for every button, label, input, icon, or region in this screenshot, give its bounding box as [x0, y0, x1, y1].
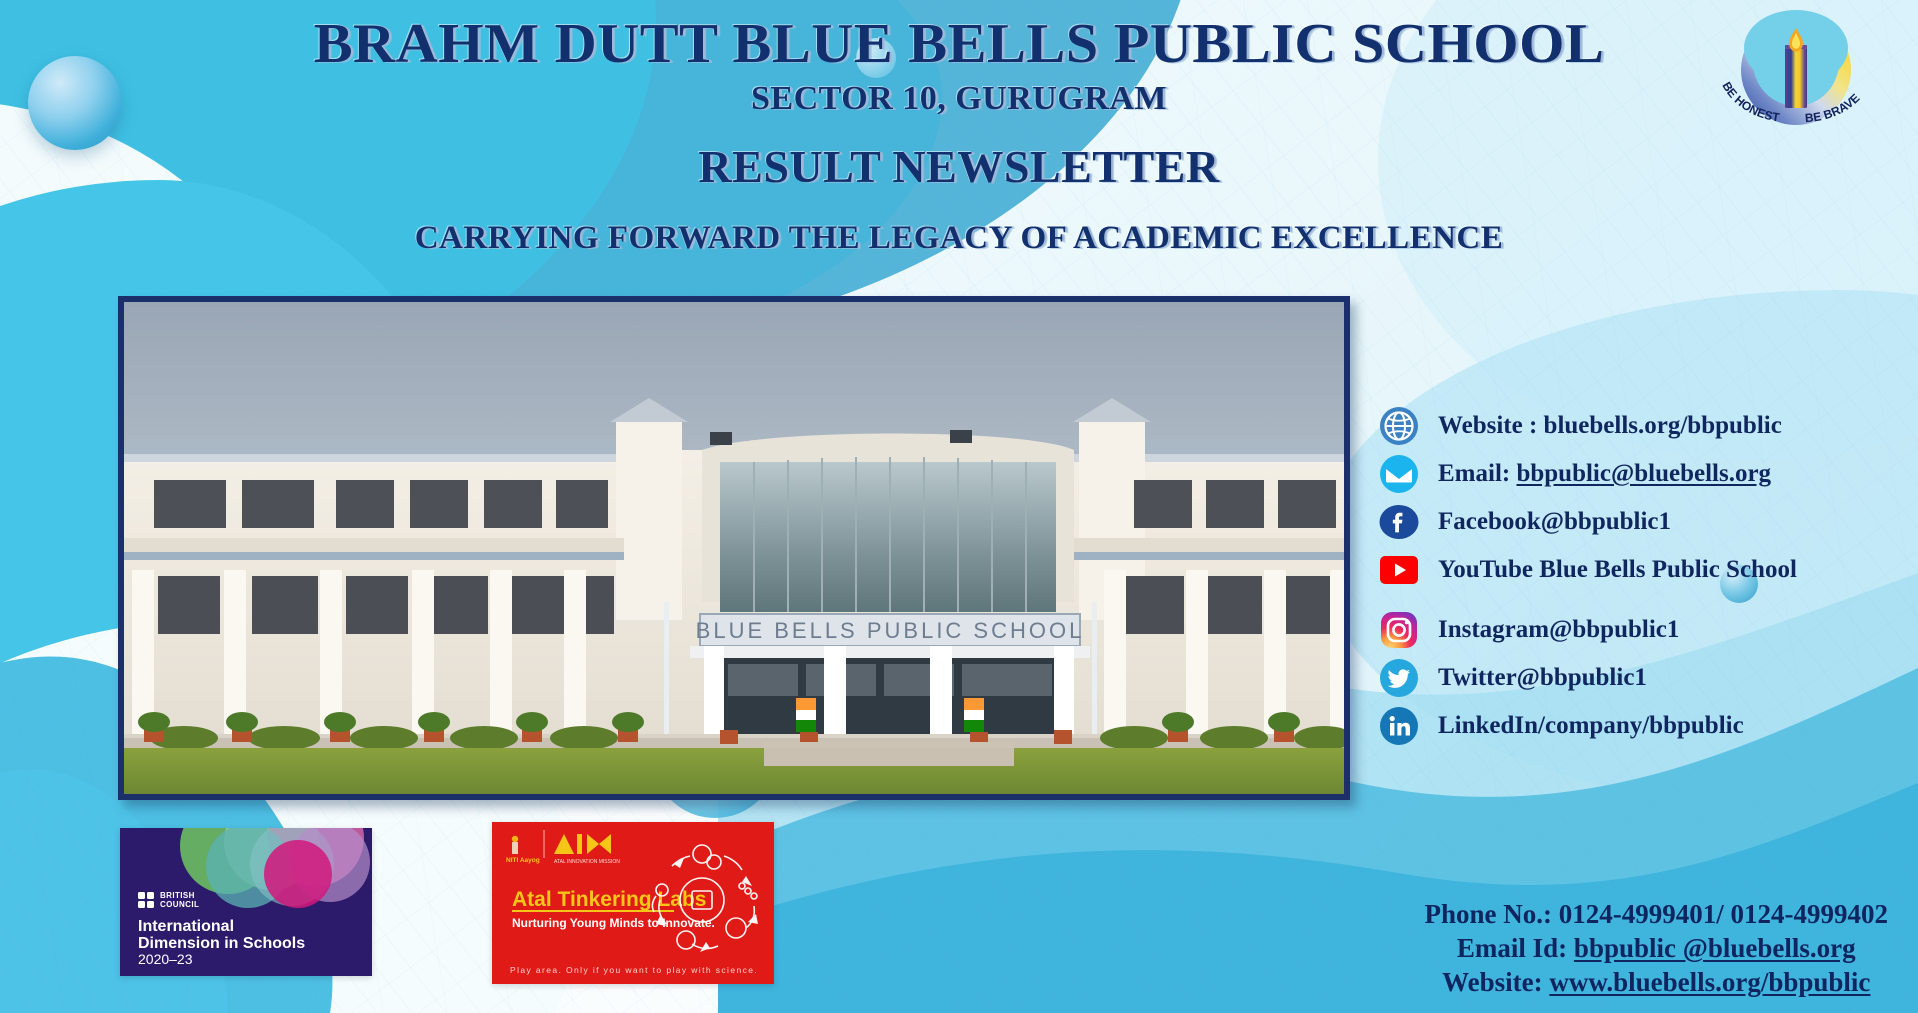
contact-youtube: YouTube Blue Bells Public School: [1438, 556, 1797, 584]
instagram-icon: [1378, 609, 1420, 651]
bc-line1: International: [138, 918, 234, 935]
footer-phone: Phone No.: 0124-4999401/ 0124-4999402: [1425, 897, 1888, 931]
contact-row-linkedin[interactable]: LinkedIn/company/bbpublic: [1378, 704, 1797, 748]
footer-email[interactable]: Email Id: bbpublic @bluebells.org: [1425, 931, 1888, 965]
school-logo: BE HONEST BE BRAVE: [1696, 8, 1896, 128]
tagline: CARRYING FORWARD THE LEGACY OF ACADEMIC …: [0, 221, 1918, 256]
aim-sub: ATAL INNOVATION MISSION: [554, 859, 620, 865]
globe-icon: [1378, 405, 1420, 447]
email-label: Email:: [1438, 460, 1516, 487]
website-label: Website :: [1438, 412, 1544, 439]
contact-row-youtube[interactable]: YouTube Blue Bells Public School: [1378, 548, 1797, 592]
niti-mark: NITI Aayog: [506, 857, 540, 864]
contact-email: Email: bbpublic@bluebells.org: [1438, 460, 1771, 488]
facebook-icon: [1378, 501, 1420, 543]
footer-website[interactable]: Website: www.bluebells.org/bbpublic: [1425, 965, 1888, 999]
youtube-icon: [1378, 549, 1420, 591]
footer-email-value: bbpublic @bluebells.org: [1574, 933, 1856, 963]
header-block: BRAHM DUTT BLUE BELLS PUBLIC SCHOOL SECT…: [0, 0, 1918, 256]
contact-row-facebook[interactable]: Facebook@bbpublic1: [1378, 500, 1797, 544]
footer-phone-label: Phone No.:: [1425, 899, 1559, 929]
school-building-photo: BLUE BELLS PUBLIC SCHOOL: [118, 296, 1350, 800]
contact-row-email[interactable]: Email: bbpublic@bluebells.org: [1378, 452, 1797, 496]
badge-british-council: BRITISH COUNCIL International Dimension …: [120, 828, 372, 976]
document-title: RESULT NEWSLETTER: [0, 143, 1918, 191]
school-sector: SECTOR 10, GURUGRAM: [0, 81, 1918, 117]
linkedin-icon: [1378, 705, 1420, 747]
contact-linkedin: LinkedIn/company/bbpublic: [1438, 712, 1744, 740]
atl-footer: Play area. Only if you want to play with…: [510, 965, 758, 975]
contact-instagram: Instagram@bbpublic1: [1438, 616, 1679, 644]
footer-website-value: www.bluebells.org/bbpublic: [1549, 967, 1870, 997]
bc-line2: Dimension in Schools: [138, 935, 305, 952]
svg-text:BRITISH: BRITISH: [160, 891, 195, 900]
contact-row-instagram[interactable]: Instagram@bbpublic1: [1378, 608, 1797, 652]
contact-row-website[interactable]: Website : bluebells.org/bbpublic: [1378, 404, 1797, 448]
badge-atal-tinkering-labs: NITI Aayog ATAL INNOVATION MISSION Atal …: [492, 822, 774, 984]
svg-text:COUNCIL: COUNCIL: [160, 900, 199, 909]
website-value: bluebells.org/bbpublic: [1544, 412, 1782, 439]
email-value: bbpublic@bluebells.org: [1516, 460, 1771, 487]
contact-list: Website : bluebells.org/bbpublic Email: …: [1378, 404, 1797, 748]
footer-phone-value: 0124-4999401/ 0124-4999402: [1559, 899, 1888, 929]
atl-title: Atal Tinkering Labs: [512, 888, 707, 911]
email-icon: [1378, 453, 1420, 495]
contact-website: Website : bluebells.org/bbpublic: [1438, 412, 1782, 440]
page-title: BRAHM DUTT BLUE BELLS PUBLIC SCHOOL: [0, 16, 1918, 73]
atl-subtitle: Nurturing Young Minds to Innovate.: [512, 916, 715, 930]
contact-facebook: Facebook@bbpublic1: [1438, 508, 1671, 536]
footer-website-label: Website:: [1442, 967, 1549, 997]
contact-twitter: Twitter@bbpublic1: [1438, 664, 1647, 692]
bc-line3: 2020–23: [138, 951, 193, 967]
footer-email-label: Email Id:: [1457, 933, 1574, 963]
footer-contact-block: Phone No.: 0124-4999401/ 0124-4999402 Em…: [1425, 897, 1888, 999]
newsletter-canvas: BE HONEST BE BRAVE BRAHM DUTT BLUE BELLS…: [0, 0, 1918, 1013]
contact-row-twitter[interactable]: Twitter@bbpublic1: [1378, 656, 1797, 700]
twitter-icon: [1378, 657, 1420, 699]
building-sign-text: BLUE BELLS PUBLIC SCHOOL: [696, 618, 1085, 643]
